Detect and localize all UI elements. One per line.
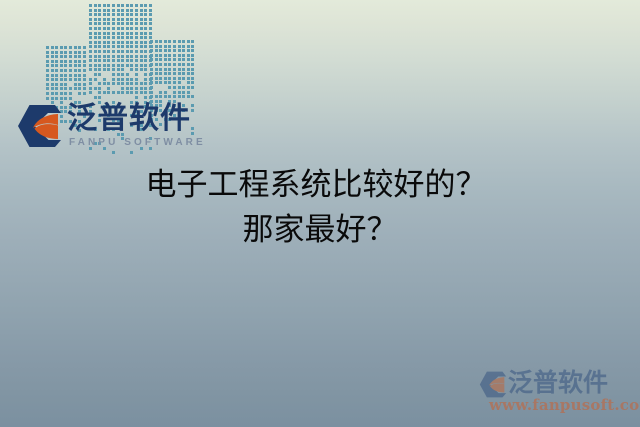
pixel-cell: [187, 54, 190, 57]
pixel-cell: [126, 59, 129, 62]
pixel-cell: [60, 74, 63, 77]
pixel-cell: [168, 49, 171, 52]
pixel-cell: [46, 60, 49, 63]
pixel-cell: [107, 68, 110, 71]
pixel-cell: [187, 68, 190, 71]
pixel-cell: [117, 78, 120, 81]
pixel-cell: [83, 74, 86, 77]
pixel-cell: [173, 58, 176, 61]
pixel-cell: [51, 55, 54, 58]
pixel-cell: [168, 68, 171, 71]
pixel-cell: [64, 74, 67, 77]
pixel-cell: [60, 60, 63, 63]
pixel-cell: [117, 27, 120, 30]
pixel-cell: [69, 46, 72, 49]
pixel-cell: [187, 63, 190, 66]
pixel-cell: [191, 58, 194, 61]
pixel-cell: [173, 72, 176, 75]
brand-name-en: FANPU SOFTWARE: [69, 137, 206, 148]
pixel-cell: [191, 54, 194, 57]
pixel-cell: [121, 78, 124, 81]
pixel-cell: [98, 73, 101, 76]
pixel-cell: [135, 55, 138, 58]
pixel-cell: [103, 18, 106, 21]
pixel-cell: [178, 63, 181, 66]
pixel-cell: [103, 50, 106, 53]
pixel-cell: [191, 49, 194, 52]
pixel-cell: [164, 63, 167, 66]
pixel-cell: [69, 64, 72, 67]
pixel-cell: [159, 45, 162, 48]
pixel-cell: [144, 68, 147, 71]
pixel-cell: [103, 27, 106, 30]
pixel-cell: [117, 82, 120, 85]
pixel-cell: [60, 55, 63, 58]
pixel-cell: [51, 64, 54, 67]
pixel-cell: [103, 78, 106, 81]
pixel-cell: [159, 72, 162, 75]
pixel-cell: [64, 51, 67, 54]
pixel-cell: [112, 91, 115, 94]
pixel-cell: [155, 49, 158, 52]
pixel-cell: [112, 45, 115, 48]
pixel-cell: [94, 45, 97, 48]
pixel-cell: [135, 91, 138, 94]
pixel-cell: [168, 40, 171, 43]
pixel-cell: [121, 41, 124, 44]
pixel-cell: [130, 22, 133, 25]
pixel-cell: [78, 55, 81, 58]
pixel-cell: [191, 40, 194, 43]
pixel-cell: [112, 50, 115, 53]
pixel-cell: [55, 64, 58, 67]
pixel-cell: [187, 86, 190, 89]
pixel-cell: [78, 87, 81, 90]
pixel-cell: [164, 68, 167, 71]
pixel-cell: [121, 82, 124, 85]
pixel-cell: [98, 55, 101, 58]
pixel-cell: [55, 55, 58, 58]
pixel-cell: [168, 81, 171, 84]
pixel-cell: [130, 68, 133, 71]
pixel-cell: [107, 64, 110, 67]
pixel-cell: [94, 18, 97, 21]
pixel-cell: [107, 50, 110, 53]
pixel-cell: [64, 97, 67, 100]
pixel-cell: [173, 68, 176, 71]
pixel-cell: [98, 91, 101, 94]
pixel-cell: [103, 59, 106, 62]
pixel-cell: [83, 51, 86, 54]
pixel-cell: [144, 36, 147, 39]
pixel-cell: [74, 64, 77, 67]
pixel-cell: [168, 54, 171, 57]
pixel-cell: [159, 54, 162, 57]
pixel-cell: [140, 27, 143, 30]
pixel-cell: [55, 92, 58, 95]
pixel-cell: [135, 64, 138, 67]
pixel-cell: [144, 96, 147, 99]
pixel-cell: [126, 50, 129, 53]
pixel-cell: [117, 18, 120, 21]
pixel-cell: [140, 22, 143, 25]
pixel-cell: [140, 45, 143, 48]
pixel-cell: [191, 81, 194, 84]
pixel-cell: [178, 54, 181, 57]
pixel-cell: [178, 81, 181, 84]
pixel-cell: [191, 77, 194, 80]
pixel-cell: [126, 9, 129, 12]
pixel-cell: [64, 69, 67, 72]
pixel-cell: [130, 45, 133, 48]
pixel-cell: [159, 63, 162, 66]
pixel-cell: [51, 87, 54, 90]
pixel-cell: [150, 77, 153, 80]
pixel-cell: [191, 63, 194, 66]
pixel-cell: [51, 51, 54, 54]
pixel-cell: [173, 77, 176, 80]
pixel-cell: [126, 45, 129, 48]
pixel-cell: [155, 58, 158, 61]
pixel-cell: [94, 59, 97, 62]
pixel-cell: [98, 9, 101, 12]
pixel-cell: [140, 9, 143, 12]
pixel-cell: [168, 77, 171, 80]
pixel-cell: [55, 83, 58, 86]
page-title: 电子工程系统比较好的？ 那家最好？: [0, 163, 640, 253]
pixel-cell: [126, 22, 129, 25]
pixel-cell: [144, 27, 147, 30]
pixel-cell: [112, 27, 115, 30]
pixel-cell: [130, 27, 133, 30]
pixel-cell: [159, 68, 162, 71]
pixel-cell: [130, 78, 133, 81]
pixel-cell: [112, 73, 115, 76]
pixel-cell: [98, 32, 101, 35]
pixel-cell: [121, 55, 124, 58]
pixel-cell: [98, 59, 101, 62]
pixel-cell: [51, 46, 54, 49]
pixel-cell: [46, 83, 49, 86]
pixel-cell: [55, 51, 58, 54]
pixel-cell: [173, 95, 176, 98]
pixel-cell: [60, 69, 63, 72]
pixel-cell: [107, 91, 110, 94]
pixel-cell: [182, 54, 185, 57]
pixel-cell: [159, 91, 162, 94]
pixel-cell: [46, 87, 49, 90]
pixel-cell: [69, 60, 72, 63]
pixel-cell: [187, 40, 190, 43]
pixel-cell: [178, 45, 181, 48]
pixel-cell: [89, 64, 92, 67]
pixel-cell: [117, 59, 120, 62]
pixel-cell: [178, 77, 181, 80]
pixel-cell: [51, 74, 54, 77]
pixel-cell: [55, 78, 58, 81]
pixel-cell: [98, 82, 101, 85]
pixel-cell: [64, 46, 67, 49]
pixel-cell: [89, 13, 92, 16]
pixel-cell: [74, 69, 77, 72]
pixel-cell: [107, 18, 110, 21]
pixel-cell: [135, 50, 138, 53]
pixel-cell: [117, 22, 120, 25]
pixel-cell: [107, 4, 110, 7]
pixel-cell: [182, 68, 185, 71]
pixel-cell: [130, 82, 133, 85]
pixel-cell: [130, 59, 133, 62]
pixel-cell: [117, 36, 120, 39]
pixel-cell: [89, 9, 92, 12]
pixel-cell: [74, 87, 77, 90]
pixel-cell: [130, 36, 133, 39]
pixel-cell: [135, 32, 138, 35]
pixel-cell: [130, 87, 133, 90]
pixel-cell: [60, 78, 63, 81]
pixel-cell: [159, 40, 162, 43]
pixel-cell: [155, 81, 158, 84]
pixel-cell: [94, 32, 97, 35]
pixel-cell: [51, 69, 54, 72]
pixel-cell: [117, 68, 120, 71]
pixel-cell: [69, 51, 72, 54]
pixel-cell: [135, 96, 138, 99]
pixel-cell: [178, 49, 181, 52]
pixel-cell: [130, 13, 133, 16]
pixel-cell: [182, 86, 185, 89]
pixel-cell: [121, 87, 124, 90]
pixel-cell: [164, 95, 167, 98]
pixel-cell: [178, 91, 181, 94]
pixel-cell: [64, 64, 67, 67]
pixel-cell: [64, 87, 67, 90]
pixel-cell: [187, 72, 190, 75]
pixel-cell: [164, 91, 167, 94]
pixel-cell: [98, 68, 101, 71]
pixel-cell: [144, 4, 147, 7]
pixel-cell: [135, 13, 138, 16]
pixel-cell: [74, 46, 77, 49]
pixel-cell: [135, 4, 138, 7]
pixel-cell: [144, 78, 147, 81]
pixel-cell: [117, 9, 120, 12]
pixel-cell: [155, 68, 158, 71]
pixel-cell: [55, 97, 58, 100]
pixel-cell: [164, 45, 167, 48]
pixel-cell: [182, 77, 185, 80]
pixel-cell: [121, 4, 124, 7]
pixel-cell: [135, 68, 138, 71]
pixel-cell: [135, 59, 138, 62]
page-title-line-1: 电子工程系统比较好的？: [0, 163, 640, 208]
pixel-cell: [126, 82, 129, 85]
pixel-cell: [46, 51, 49, 54]
pixel-cell: [112, 9, 115, 12]
pixel-cell: [149, 36, 152, 39]
pixel-cell: [173, 86, 176, 89]
pixel-cell: [64, 60, 67, 63]
pixel-cell: [107, 41, 110, 44]
pixel-cell: [103, 41, 106, 44]
pixel-cell: [46, 74, 49, 77]
pixel-cell: [126, 78, 129, 81]
pixel-cell: [126, 13, 129, 16]
pixel-cell: [94, 27, 97, 30]
pixel-cell: [89, 4, 92, 7]
pixel-cell: [150, 49, 153, 52]
pixel-cell: [83, 60, 86, 63]
pixel-cell: [168, 63, 171, 66]
pixel-cell: [74, 83, 77, 86]
pixel-cell: [144, 87, 147, 90]
pixel-cell: [107, 45, 110, 48]
pixel-cell: [130, 64, 133, 67]
pixel-cell: [135, 22, 138, 25]
pixel-cell: [74, 60, 77, 63]
pixel-cell: [51, 78, 54, 81]
pixel-cell: [98, 45, 101, 48]
pixel-cell: [60, 92, 63, 95]
pixel-cell: [173, 45, 176, 48]
pixel-cell: [140, 59, 143, 62]
pixel-cell: [55, 60, 58, 63]
pixel-cell: [173, 49, 176, 52]
pixel-cell: [69, 78, 72, 81]
pixel-cell: [150, 45, 153, 48]
pixel-cell: [182, 72, 185, 75]
pixel-cell: [98, 87, 101, 90]
pixel-cell: [98, 27, 101, 30]
pixel-cell: [178, 68, 181, 71]
pixel-cell: [135, 73, 138, 76]
pixel-cell: [150, 91, 153, 94]
pixel-cell: [78, 78, 81, 81]
pixel-cell: [187, 81, 190, 84]
pixel-cell: [103, 36, 106, 39]
pixel-cell: [78, 60, 81, 63]
pixel-cell: [150, 54, 153, 57]
pixel-cell: [94, 41, 97, 44]
pixel-cell: [140, 32, 143, 35]
pixel-cell: [135, 18, 138, 21]
pixel-cell: [74, 51, 77, 54]
pixel-cell: [187, 77, 190, 80]
pixel-cell: [144, 64, 147, 67]
pixel-cell: [144, 91, 147, 94]
pixel-cell: [130, 4, 133, 7]
pixel-cell: [144, 9, 147, 12]
pixel-cell: [164, 72, 167, 75]
pixel-cell: [150, 63, 153, 66]
pixel-cell: [135, 9, 138, 12]
pixel-cell: [144, 22, 147, 25]
pixel-cell: [130, 50, 133, 53]
pixel-cell: [74, 74, 77, 77]
pixel-cell: [140, 36, 143, 39]
pixel-cell: [182, 58, 185, 61]
pixel-cell: [150, 81, 153, 84]
pixel-cell: [126, 55, 129, 58]
pixel-cell: [60, 97, 63, 100]
pixel-cell: [103, 45, 106, 48]
pixel-cell: [164, 49, 167, 52]
pixel-cell: [94, 22, 97, 25]
pixel-cell: [83, 46, 86, 49]
pixel-cell: [112, 22, 115, 25]
pixel-cell: [89, 78, 92, 81]
pixel-cell: [55, 69, 58, 72]
pixel-cell: [98, 36, 101, 39]
pixel-cell: [121, 68, 124, 71]
pixel-cell: [191, 86, 194, 89]
pixel-cell: [46, 64, 49, 67]
pixel-cell: [51, 83, 54, 86]
pixel-cell: [112, 32, 115, 35]
pixel-cell: [107, 32, 110, 35]
pixel-cell: [69, 69, 72, 72]
pixel-cell: [74, 55, 77, 58]
pixel-cell: [94, 13, 97, 16]
pixel-cell: [150, 86, 153, 89]
pixel-cell: [78, 69, 81, 72]
pixel-cell: [46, 46, 49, 49]
pixel-cell: [83, 69, 86, 72]
pixel-cell: [117, 4, 120, 7]
pixel-cell: [60, 83, 63, 86]
pixel-cell: [121, 9, 124, 12]
pixel-cell: [94, 55, 97, 58]
pixel-cell: [94, 9, 97, 12]
watermark: 泛普软件 www.fanpusoft.com: [476, 368, 640, 420]
pixel-cell: [89, 32, 92, 35]
pixel-cell: [83, 64, 86, 67]
pixel-cell: [94, 96, 97, 99]
pixel-cell: [89, 45, 92, 48]
pixel-cell: [89, 59, 92, 62]
pixel-cell: [178, 86, 181, 89]
pixel-cell: [144, 41, 147, 44]
pixel-cell: [164, 77, 167, 80]
pixel-cell: [60, 87, 63, 90]
pixel-cell: [103, 68, 106, 71]
fanpu-emblem-icon: [479, 371, 507, 398]
pixel-cell: [98, 4, 101, 7]
pixel-cell: [168, 86, 171, 89]
pixel-cell: [121, 18, 124, 21]
pixel-cell: [94, 36, 97, 39]
pixel-cell: [107, 59, 110, 62]
pixel-cell: [121, 64, 124, 67]
pixel-cell: [178, 72, 181, 75]
pixel-cell: [135, 41, 138, 44]
pixel-cell: [103, 4, 106, 7]
pixel-cell: [89, 22, 92, 25]
pixel-cell: [182, 45, 185, 48]
pixel-cell: [173, 81, 176, 84]
pixel-cell: [126, 18, 129, 21]
pixel-cell: [121, 91, 124, 94]
pixel-cell: [187, 91, 190, 94]
pixel-cell: [89, 41, 92, 44]
pixel-cell: [178, 40, 181, 43]
pixel-cell: [51, 92, 54, 95]
pixel-cell: [94, 64, 97, 67]
pixel-cell: [117, 73, 120, 76]
pixel-cell: [182, 95, 185, 98]
pixel-cell: [144, 18, 147, 21]
pixel-cell: [144, 13, 147, 16]
